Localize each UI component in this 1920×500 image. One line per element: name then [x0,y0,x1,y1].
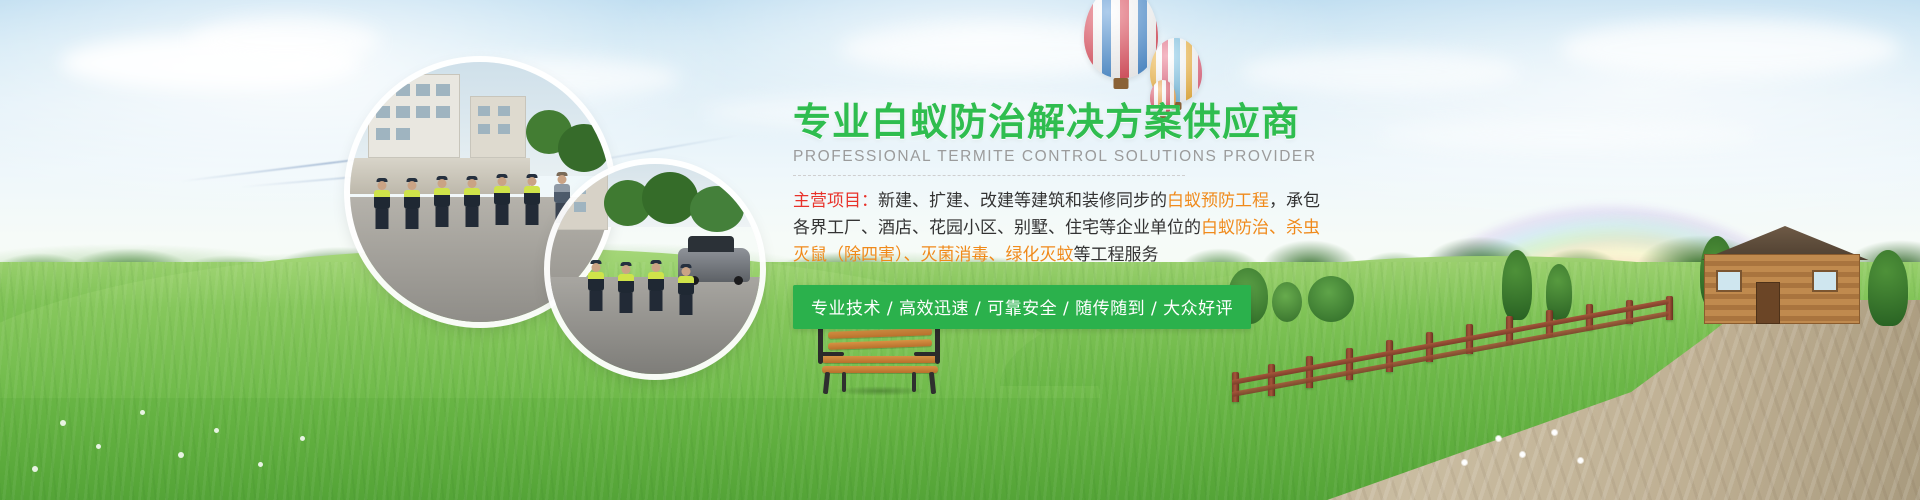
cabin-window [1812,270,1838,292]
description-line-3: 灭鼠（除四害）、灭菌消毒、绿化灭蚊等工程服务 [793,242,1213,269]
services-label: 主营项目 [793,191,861,211]
white-flower [1462,460,1467,465]
banner-copy: 专业白蚁防治解决方案供应商 PROFESSIONAL TERMITE CONTR… [793,100,1493,329]
white-flower [1520,452,1525,457]
line3-text-a: 等工程服务 [1074,245,1159,265]
clover-flower [258,462,263,467]
description-line-2: 各界工厂、酒店、花园小区、别墅、住宅等企业单位的白蚁防治、杀虫 [793,215,1213,242]
white-flower [1552,430,1557,435]
services-colon: ： [861,191,878,211]
clover-flower [300,436,305,441]
wooden-cabin-icon [1690,218,1880,328]
line1-text-a: 新建、扩建、改建等建筑和装修同步的 [878,191,1167,211]
description-line-1: 主营项目：新建、扩建、改建等建筑和装修同步的白蚁预防工程，承包 [793,188,1213,215]
white-flower [1496,436,1501,441]
hero-banner: 专业白蚁防治解决方案供应商 PROFESSIONAL TERMITE CONTR… [0,0,1920,500]
clover-flower [178,452,184,458]
divider [793,175,1185,176]
conifer-icon [1502,250,1532,320]
team-photo-collage [350,62,770,372]
cloud-icon [1560,20,1900,78]
feature-tag-bar: 专业技术 / 高效迅速 / 可靠安全 / 随传随到 / 大众好评 [793,285,1251,329]
clover-flower [214,428,219,433]
line1-highlight: 白蚁预防工程 [1167,191,1269,211]
clover-flower [96,444,101,449]
service-description: 主营项目：新建、扩建、改建等建筑和装修同步的白蚁预防工程，承包 各界工厂、酒店、… [793,188,1213,269]
clover-flower [60,420,66,426]
page-subtitle: PROFESSIONAL TERMITE CONTROL SOLUTIONS P… [793,148,1493,166]
white-flower [1578,458,1583,463]
cloud-icon [190,18,380,64]
line2-highlight: 白蚁防治、杀虫 [1201,218,1320,238]
cloud-icon [1240,50,1520,94]
clover-flower [140,410,145,415]
hot-air-balloon-icon [1084,0,1158,78]
photo-circle-street [550,164,760,374]
line2-text-a: 各界工厂、酒店、花园小区、别墅、住宅等企业单位的 [793,218,1201,238]
line3-highlight: 灭鼠（除四害）、灭菌消毒、绿化灭蚊 [793,245,1074,265]
line1-text-b: ，承包 [1269,191,1320,211]
clover-flower [32,466,38,472]
cabin-window [1716,270,1742,292]
cabin-door [1756,282,1780,324]
page-title: 专业白蚁防治解决方案供应商 [793,100,1493,145]
